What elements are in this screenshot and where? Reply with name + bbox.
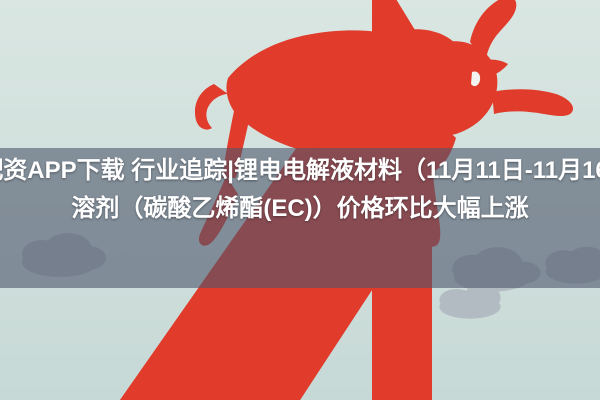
banner-artwork <box>0 0 600 400</box>
headline-scrim-band <box>0 148 600 288</box>
news-banner-image: 三万配资APP下载 行业追踪|锂电电解液材料（11月11日-11月16日）：溶剂… <box>0 0 600 400</box>
